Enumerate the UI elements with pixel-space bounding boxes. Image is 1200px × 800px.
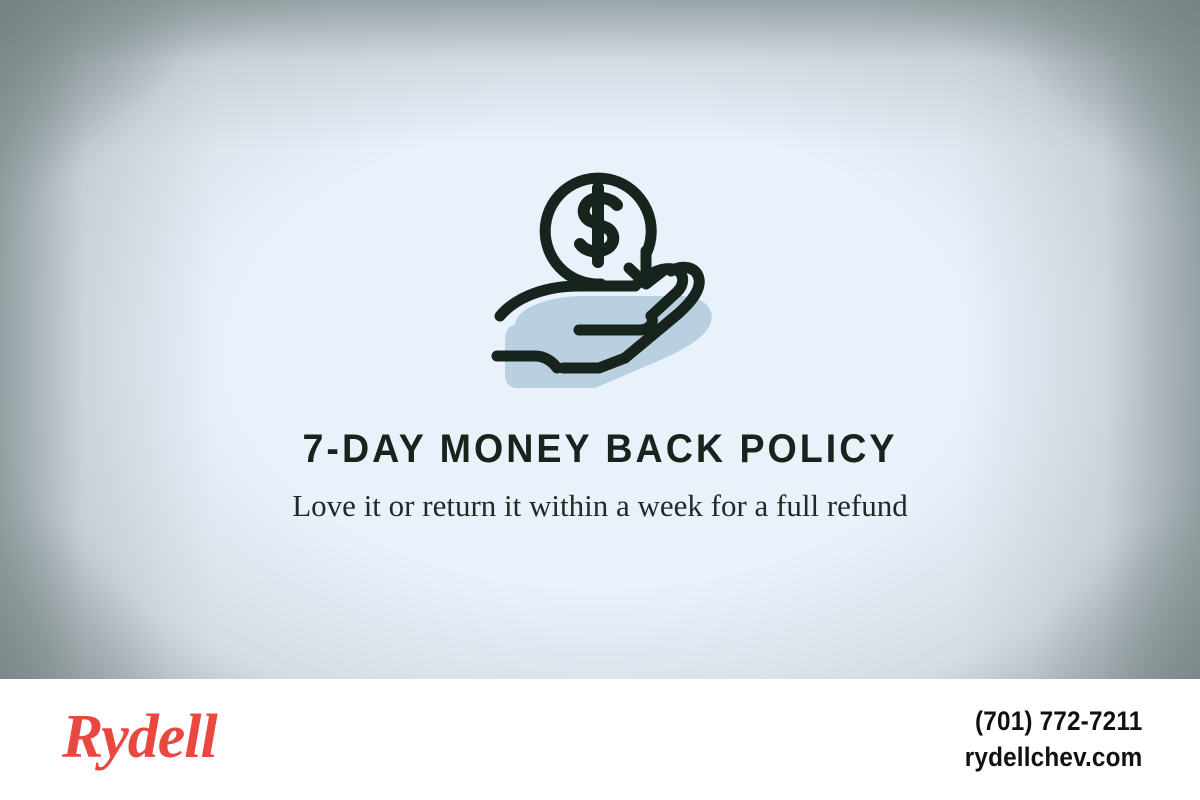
promo-card: 7-DAY MONEY BACK POLICY Love it or retur… — [0, 0, 1200, 800]
footer-bar: Rydell (701) 772-7211 rydellchev.com — [0, 679, 1200, 800]
page-title: 7-DAY MONEY BACK POLICY — [149, 428, 1051, 470]
website-url[interactable]: rydellchev.com — [964, 740, 1142, 776]
rydell-logo[interactable]: Rydell — [62, 706, 217, 768]
headline-block: 7-DAY MONEY BACK POLICY Love it or retur… — [0, 428, 1200, 527]
page-subtitle: Love it or return it within a week for a… — [265, 486, 935, 527]
phone-number[interactable]: (701) 772-7211 — [964, 704, 1142, 740]
contact-block: (701) 772-7211 rydellchev.com — [945, 704, 1142, 775]
money-back-hand-icon — [0, 150, 1200, 390]
